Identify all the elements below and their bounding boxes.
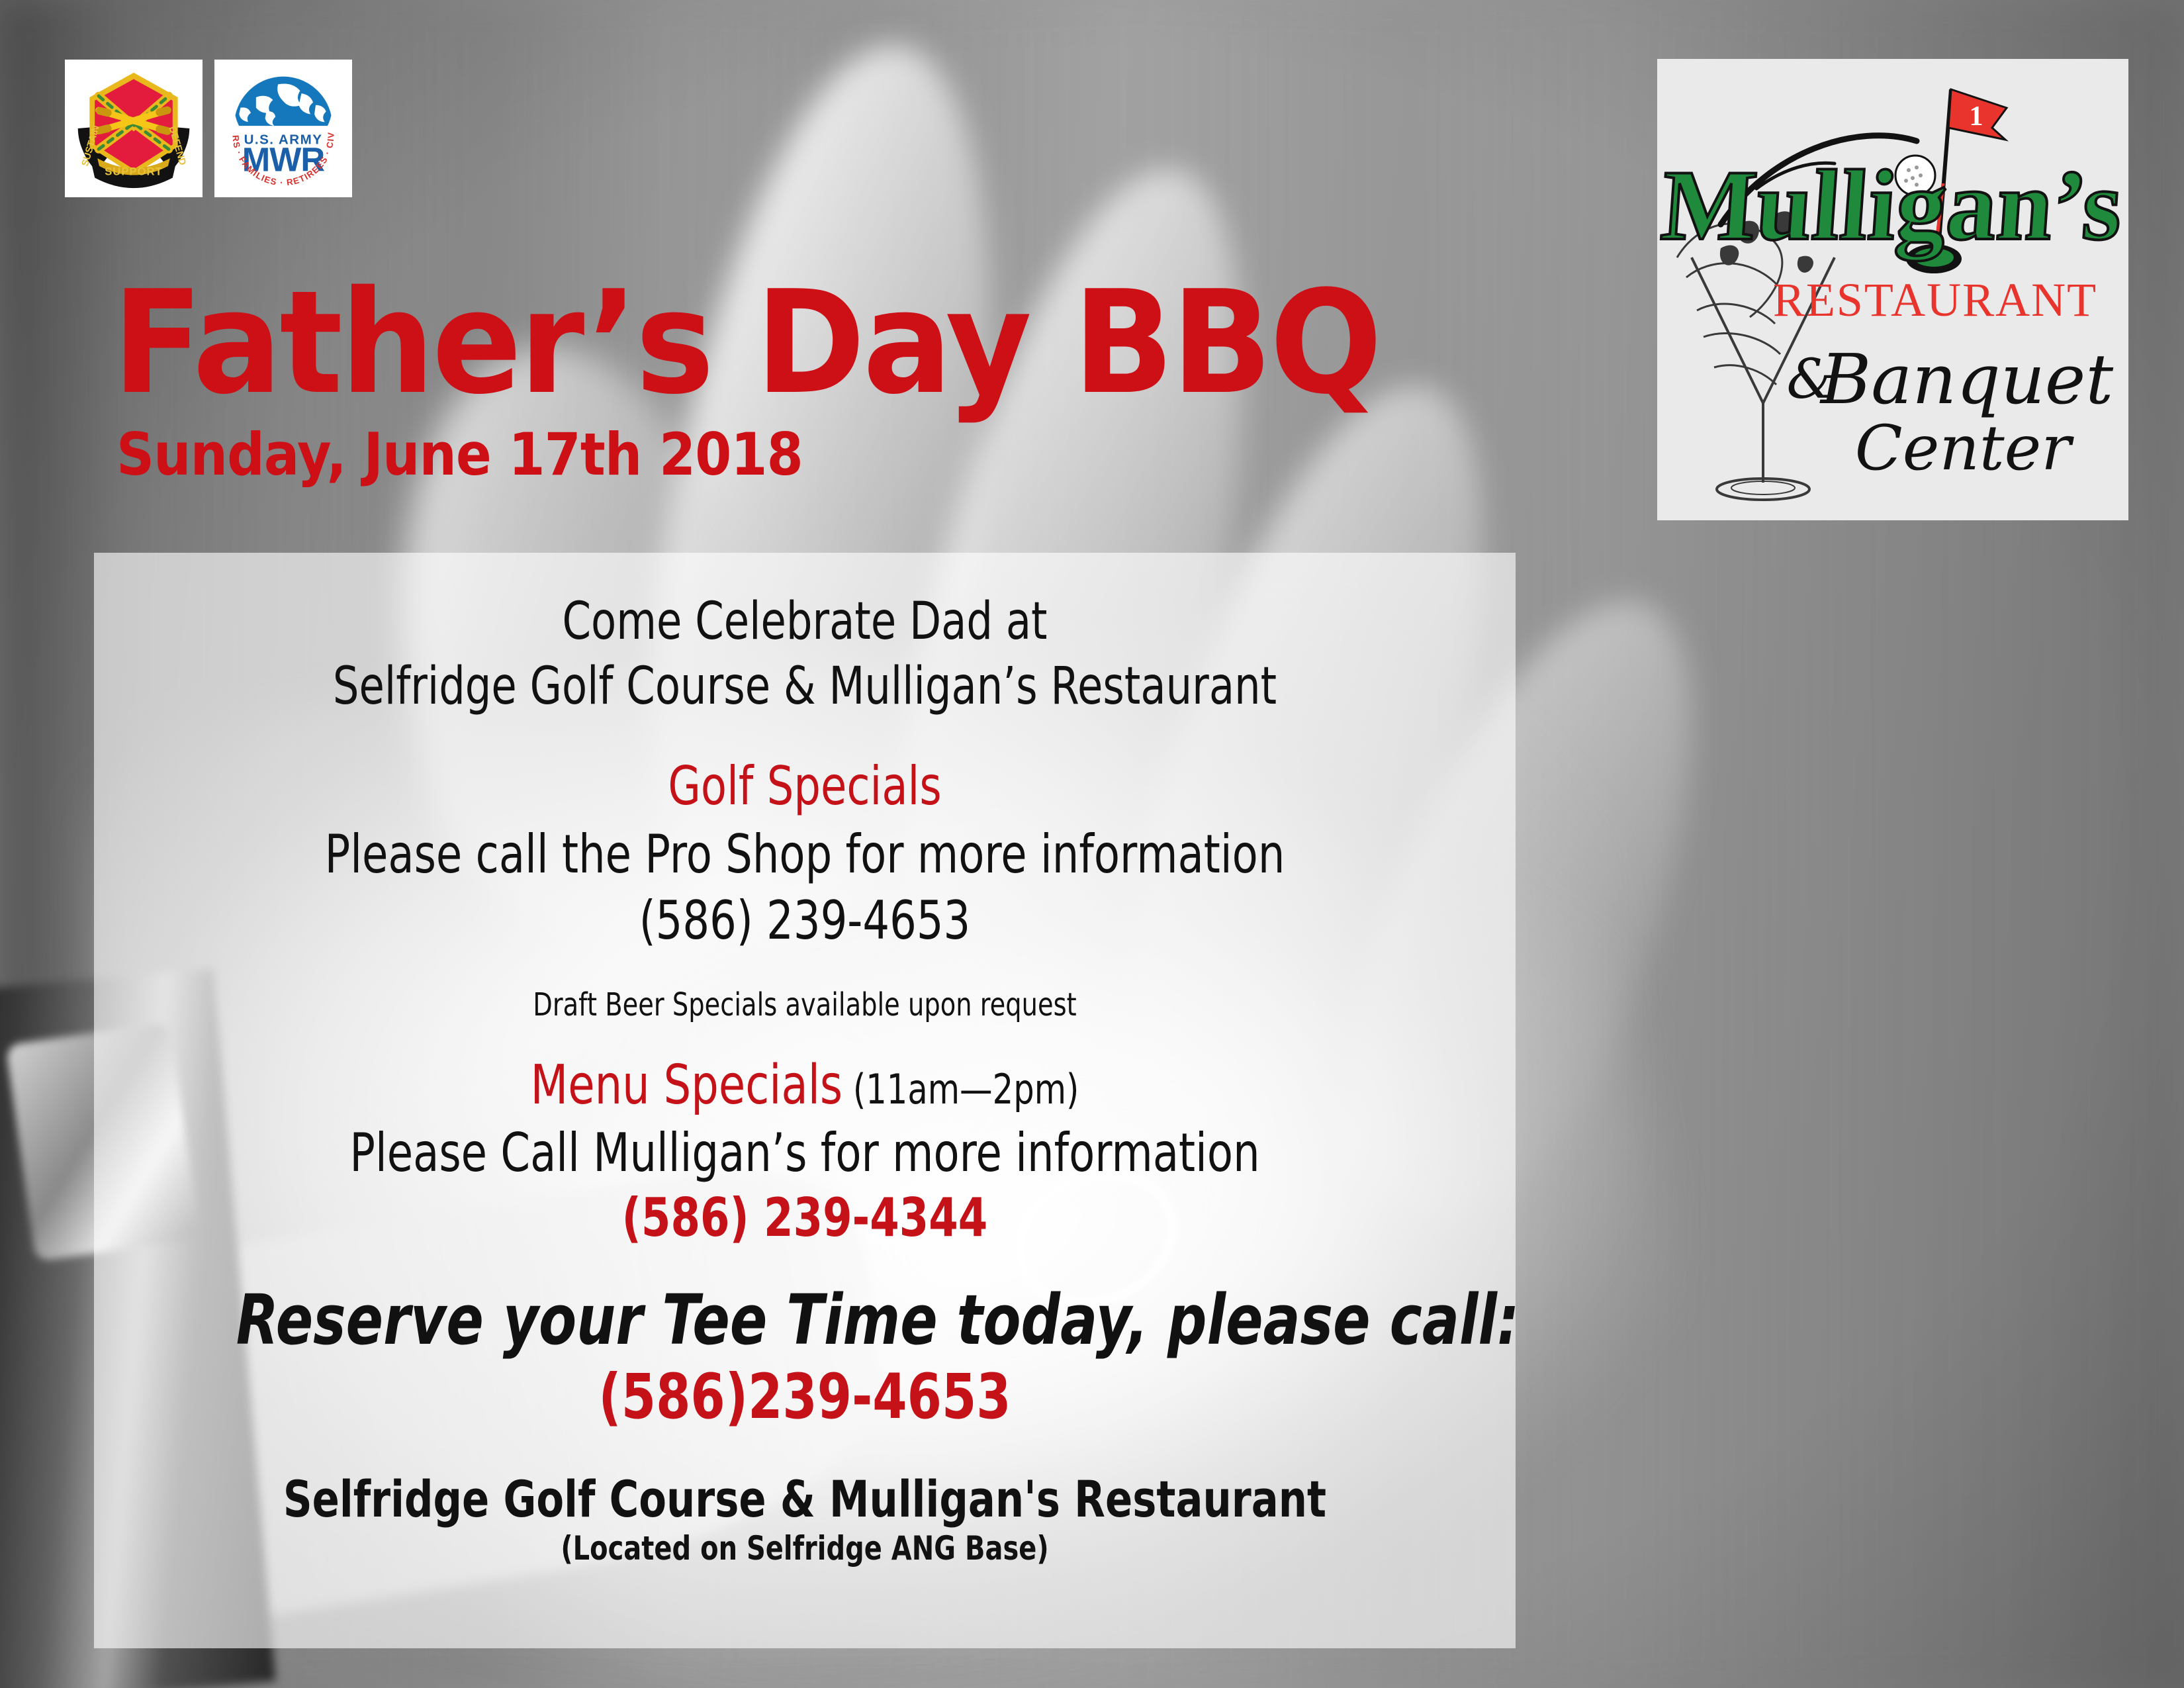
event-date: Sunday, June 17th 2018: [116, 426, 1364, 484]
menu-specials-heading-row: Menu Specials (11am—2pm): [236, 1056, 1373, 1115]
agency-logo-row: SUPPORT SUSTAIN DEFEND: [65, 60, 352, 197]
mulligans-logo: 1 Mulligan’s Restaurant & B: [1657, 59, 2128, 520]
page-title: Father’s Day BBQ: [113, 275, 1405, 411]
intro-line-1: Come Celebrate Dad at: [236, 553, 1373, 649]
footer-venue-name: Selfridge Golf Course & Mulligan's Resta…: [236, 1472, 1373, 1526]
mulligans-center-text: Center: [1855, 412, 2074, 485]
menu-specials-heading: Menu Specials: [531, 1054, 843, 1117]
menu-specials-description: Please Call Mulligan’s for more informat…: [236, 1125, 1373, 1182]
golf-specials-heading: Golf Specials: [236, 758, 1373, 815]
mulligans-banquet-text: Banquet: [1819, 339, 2114, 420]
mwr-globe-icon: U.S. ARMY MWR SOLDIERS · FAMILIES · RETI…: [218, 64, 348, 193]
imcom-motto-bottom: SUPPORT: [105, 165, 162, 178]
flyer-canvas: SUPPORT SUSTAIN DEFEND: [0, 0, 2184, 1688]
menu-specials-hours: (11am—2pm): [842, 1065, 1079, 1113]
mulligans-restaurant-text: Restaurant: [1773, 273, 2097, 326]
us-army-mwr-logo: U.S. ARMY MWR SOLDIERS · FAMILIES · RETI…: [214, 60, 352, 197]
mulligans-wordmark: Mulligan’s: [1658, 149, 2126, 261]
imcom-crest-logo: SUPPORT SUSTAIN DEFEND: [65, 60, 203, 197]
content-panel: Come Celebrate Dad at Selfridge Golf Cou…: [94, 553, 1516, 1648]
mulligans-phone[interactable]: (586) 239-4344: [236, 1190, 1373, 1246]
headline-block: Father’s Day BBQ Sunday, June 17th 2018: [113, 275, 1502, 484]
golf-specials-description: Please call the Pro Shop for more inform…: [236, 826, 1373, 883]
footer-location-note: (Located on Selfridge ANG Base): [236, 1530, 1373, 1566]
reserve-tee-time-line: Reserve your Tee Time today, please call…: [236, 1283, 1373, 1357]
content-panel-inner: Come Celebrate Dad at Selfridge Golf Cou…: [94, 553, 1516, 1566]
flag-number: 1: [1970, 101, 1983, 132]
tee-time-phone[interactable]: (586)239-4653: [236, 1364, 1373, 1431]
draft-beer-note: Draft Beer Specials available upon reque…: [236, 988, 1373, 1023]
intro-line-2: Selfridge Golf Course & Mulligan’s Resta…: [236, 659, 1373, 714]
imcom-crest-icon: SUPPORT SUSTAIN DEFEND: [69, 64, 199, 193]
mulligans-logo-icon: 1 Mulligan’s Restaurant & B: [1657, 59, 2128, 520]
pro-shop-phone[interactable]: (586) 239-4653: [236, 892, 1373, 949]
